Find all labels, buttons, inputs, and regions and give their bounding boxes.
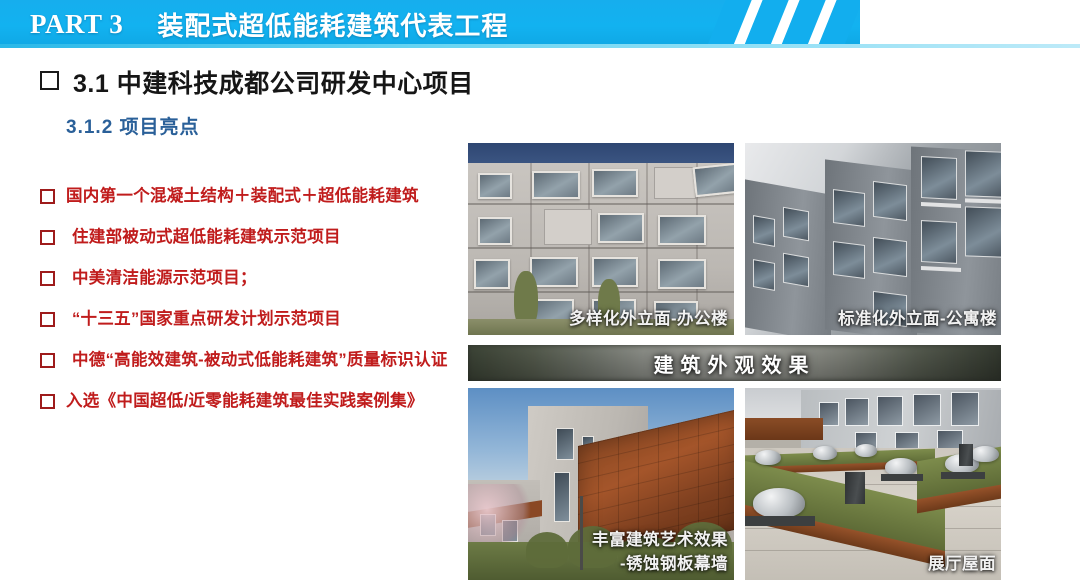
section-heading: 3.1 中建科技成都公司研发中心项目: [40, 64, 474, 100]
square-bullet-icon: [40, 394, 55, 409]
list-item-label: 入选《中国超低/近零能耗建筑最佳实践案例集》: [66, 387, 424, 415]
photo-diversified-office-facade: 多样化外立面-办公楼: [468, 143, 734, 335]
list-item-label: “十三五”国家重点研发计划示范项目: [66, 305, 341, 333]
header-diagonal-stripes: [716, 0, 866, 48]
photo-caption-line2: -锈蚀钢板幕墙: [620, 553, 728, 576]
banner-building-appearance: 建筑外观效果: [468, 345, 1001, 381]
list-item: 住建部被动式超低能耗建筑示范项目: [40, 223, 450, 251]
header-title: 装配式超低能耗建筑代表工程: [157, 6, 508, 43]
list-item: “十三五”国家重点研发计划示范项目: [40, 305, 450, 333]
photo-exhibition-hall-roof: 展厅屋面: [745, 388, 1001, 580]
square-bullet-icon: [40, 230, 55, 245]
square-bullet-icon: [40, 271, 55, 286]
list-item-label: 住建部被动式超低能耗建筑示范项目: [66, 223, 341, 251]
list-item-label: 中德“高能效建筑-被动式低能耗建筑”质量标识认证: [66, 346, 448, 374]
slide-header: PART 3 装配式超低能耗建筑代表工程: [0, 0, 1080, 48]
subsection-heading: 3.1.2 项目亮点: [66, 112, 200, 139]
square-bullet-icon: [40, 71, 59, 90]
list-item-label: 中美清洁能源示范项目；: [66, 264, 257, 292]
photo-corten-steel-curtain-wall: 丰富建筑艺术效果 -锈蚀钢板幕墙: [468, 388, 734, 580]
photo-caption-line1: 丰富建筑艺术效果: [592, 529, 728, 552]
photo-standardized-apartment-facade: 标准化外立面-公寓楼: [745, 143, 1001, 335]
list-item-label: 国内第一个混凝土结构＋装配式＋超低能耗建筑: [66, 182, 419, 210]
section-heading-label: 3.1 中建科技成都公司研发中心项目: [73, 64, 474, 100]
square-bullet-icon: [40, 189, 55, 204]
list-item: 中美清洁能源示范项目；: [40, 264, 450, 292]
header-white-area: [860, 0, 1080, 48]
square-bullet-icon: [40, 353, 55, 368]
part-label: PART 3: [30, 9, 123, 40]
list-item: 入选《中国超低/近零能耗建筑最佳实践案例集》: [40, 387, 450, 415]
list-item: 中德“高能效建筑-被动式低能耗建筑”质量标识认证: [40, 346, 450, 374]
banner-caption: 建筑外观效果: [468, 345, 1001, 381]
square-bullet-icon: [40, 312, 55, 327]
header-text-group: PART 3 装配式超低能耗建筑代表工程: [30, 3, 508, 45]
photo-caption: 标准化外立面-公寓楼: [838, 308, 997, 331]
list-item: 国内第一个混凝土结构＋装配式＋超低能耗建筑: [40, 182, 450, 210]
photo-caption: 展厅屋面: [928, 553, 996, 576]
photo-caption: 多样化外立面-办公楼: [569, 308, 728, 331]
highlights-list: 国内第一个混凝土结构＋装配式＋超低能耗建筑 住建部被动式超低能耗建筑示范项目 中…: [40, 182, 450, 428]
